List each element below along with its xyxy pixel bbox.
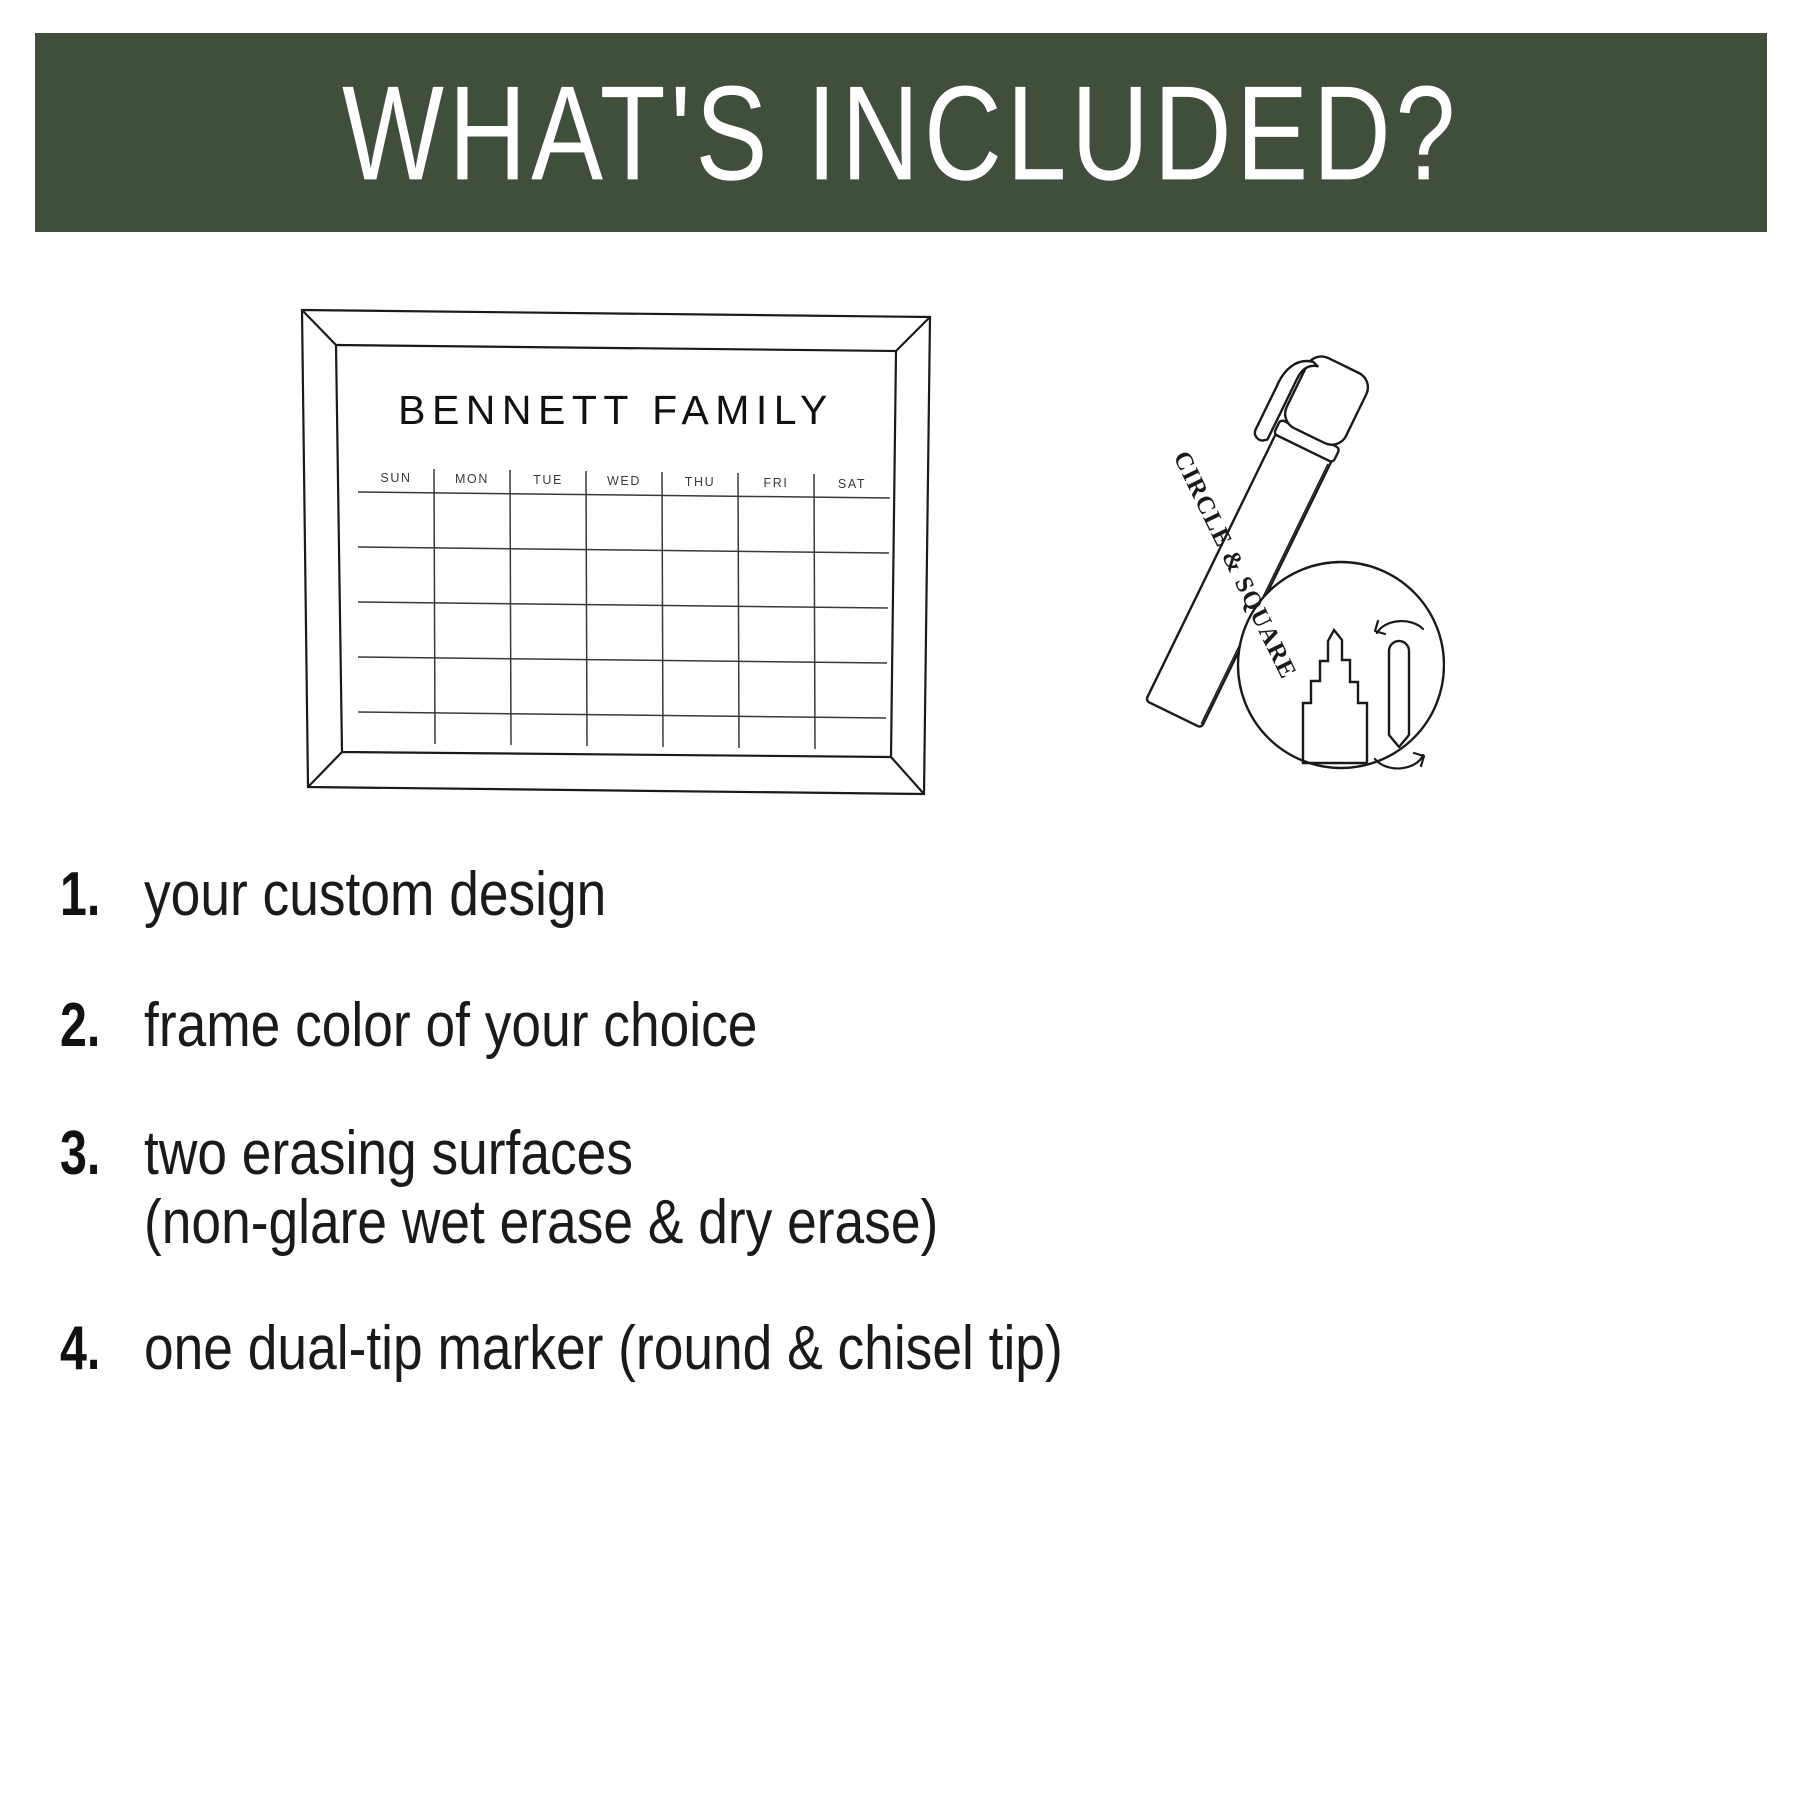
calendar-col-line-2 xyxy=(510,470,511,745)
list-item: 1. your custom design xyxy=(60,860,1760,929)
list-item-number-4: 4. xyxy=(60,1314,126,1383)
calendar-col-line-3 xyxy=(586,471,587,746)
marker-svg: CIRCLE & SQUARE xyxy=(1045,335,1445,805)
header-banner: WHAT'S INCLUDED? xyxy=(35,33,1767,232)
list-item: 3. two erasing surfaces (non-glare wet e… xyxy=(60,1119,1760,1258)
page-title: WHAT'S INCLUDED? xyxy=(342,65,1460,200)
calendar-illustration: BENNETT FAMILY SUN MON TUE WED THU FRI S… xyxy=(296,302,936,802)
list-item-number-2: 2. xyxy=(60,991,126,1060)
product-illustration-row: BENNETT FAMILY SUN MON TUE WED THU FRI S… xyxy=(0,280,1800,840)
calendar-col-line-4 xyxy=(662,472,663,747)
list-item-text-3: two erasing surfaces (non-glare wet eras… xyxy=(144,1119,1534,1258)
calendar-board-title: BENNETT FAMILY xyxy=(398,387,834,433)
list-item-text-4: one dual-tip marker (round & chisel tip) xyxy=(144,1314,1534,1383)
calendar-col-line-1 xyxy=(434,469,435,744)
marker-illustration: CIRCLE & SQUARE xyxy=(1045,335,1445,805)
list-item: 2. frame color of your choice xyxy=(60,991,1760,1060)
calendar-col-line-6 xyxy=(814,474,815,749)
list-item-text-2: frame color of your choice xyxy=(144,991,1534,1060)
calendar-col-line-5 xyxy=(738,473,739,748)
day-header-wed: WED xyxy=(607,474,641,488)
day-header-sat: SAT xyxy=(838,477,866,491)
calendar-svg: BENNETT FAMILY SUN MON TUE WED THU FRI S… xyxy=(296,302,936,802)
included-items-list: 1. your custom design 2. frame color of … xyxy=(60,860,1760,1383)
list-item: 4. one dual-tip marker (round & chisel t… xyxy=(60,1314,1760,1383)
day-header-mon: MON xyxy=(455,472,489,486)
day-header-sun: SUN xyxy=(380,471,411,485)
list-item-number-3: 3. xyxy=(60,1119,126,1188)
list-item-text-1: your custom design xyxy=(144,860,1534,929)
list-item-number-1: 1. xyxy=(60,860,126,929)
day-header-tue: TUE xyxy=(533,473,563,487)
day-header-fri: FRI xyxy=(764,476,789,490)
day-header-thu: THU xyxy=(685,475,716,489)
